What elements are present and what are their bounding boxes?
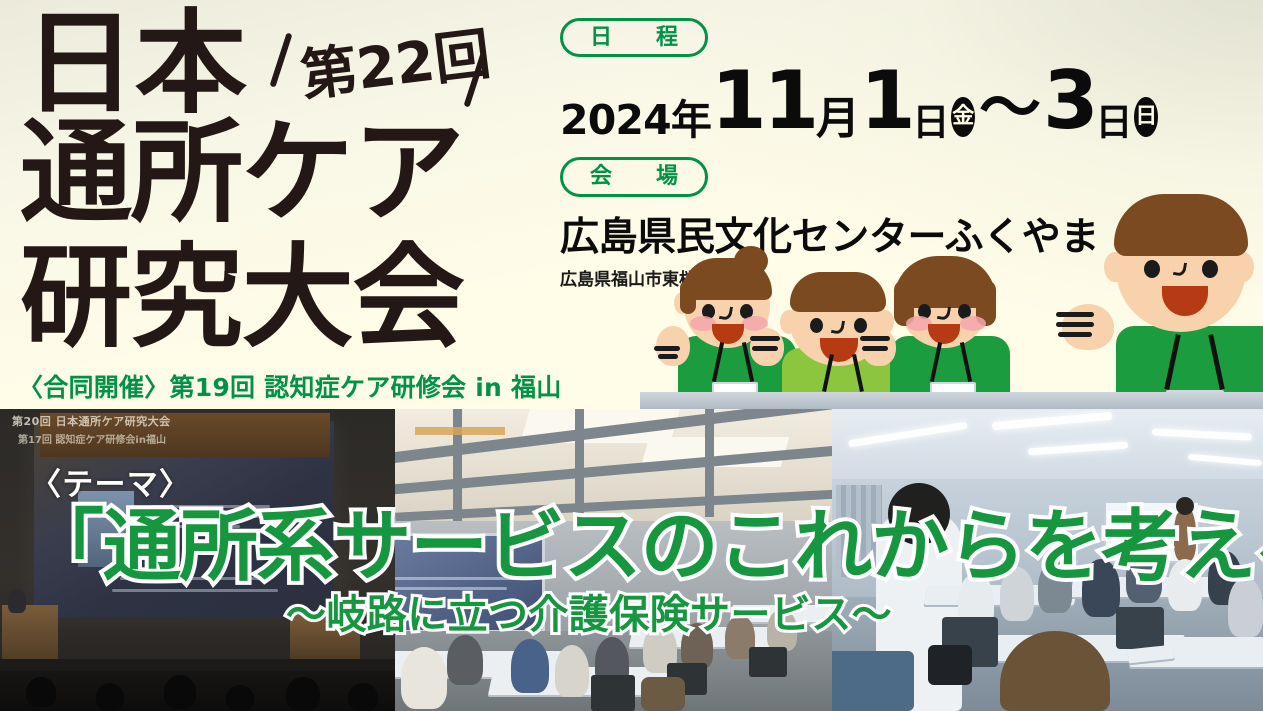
event-poster: 日本 通所ケア 研究大会 第22回 〈合同開催〉第19回 認知症ケア研修会 in… [0, 0, 1263, 711]
theme-main-title: 「通所系サービスのこれからを考える」 [26, 508, 1263, 586]
theme-label: 〈テーマ〉 [30, 459, 191, 504]
theme-overlay: 〈テーマ〉 「通所系サービスのこれからを考える」 〜岐路に立つ介護保険サービス〜 [0, 0, 1263, 711]
theme-subtitle: 〜岐路に立つ介護保険サービス〜 [286, 595, 892, 635]
